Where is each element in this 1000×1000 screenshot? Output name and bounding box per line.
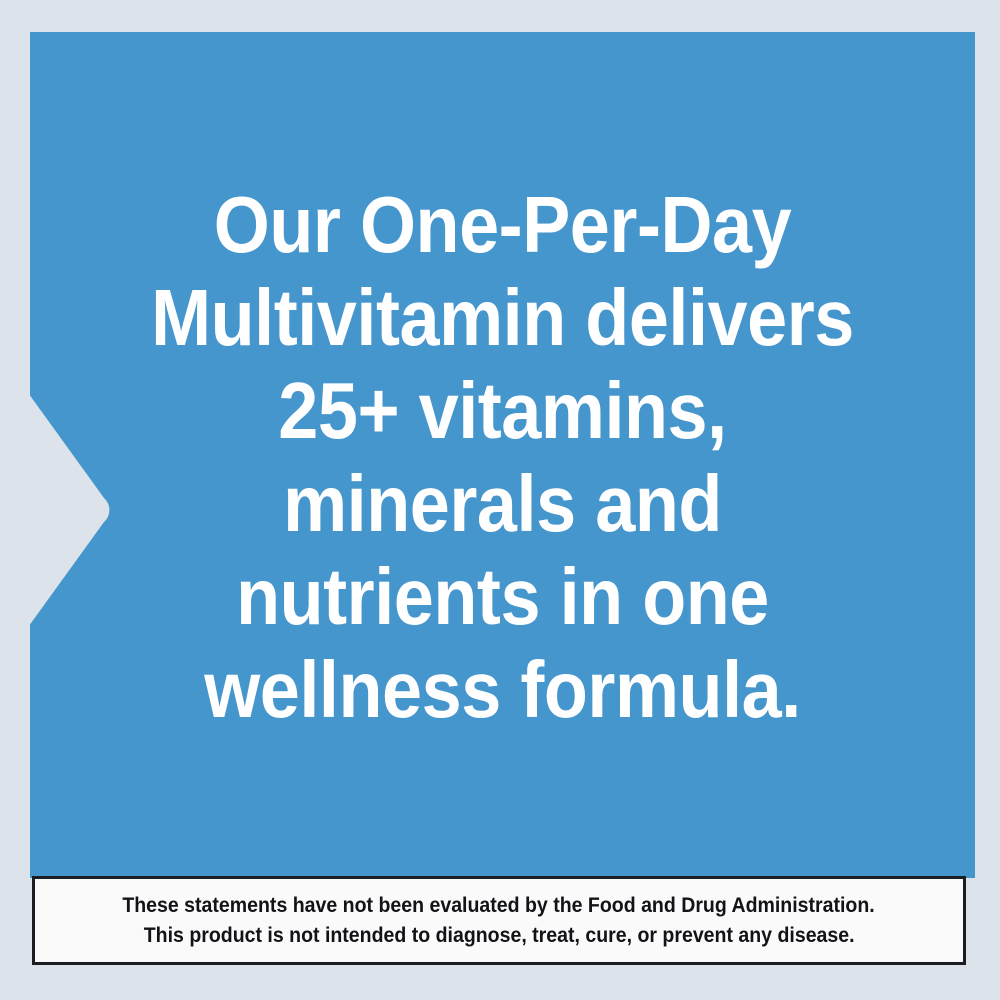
headline-line-6: wellness formula. — [77, 643, 928, 736]
headline-line-4: minerals and — [77, 457, 928, 550]
disclaimer-line-1: These statements have not been evaluated… — [123, 891, 875, 921]
headline-line-1: Our One-Per-Day — [77, 178, 928, 271]
headline: Our One-Per-Day Multivitamin delivers 25… — [77, 178, 928, 736]
headline-line-5: nutrients in one — [77, 550, 928, 643]
headline-line-2: Multivitamin delivers — [77, 271, 928, 364]
promo-card: Our One-Per-Day Multivitamin delivers 25… — [0, 0, 1000, 1000]
fda-disclaimer-box: These statements have not been evaluated… — [32, 876, 966, 965]
disclaimer-line-2: This product is not intended to diagnose… — [144, 921, 855, 951]
headline-line-3: 25+ vitamins, — [77, 364, 928, 457]
